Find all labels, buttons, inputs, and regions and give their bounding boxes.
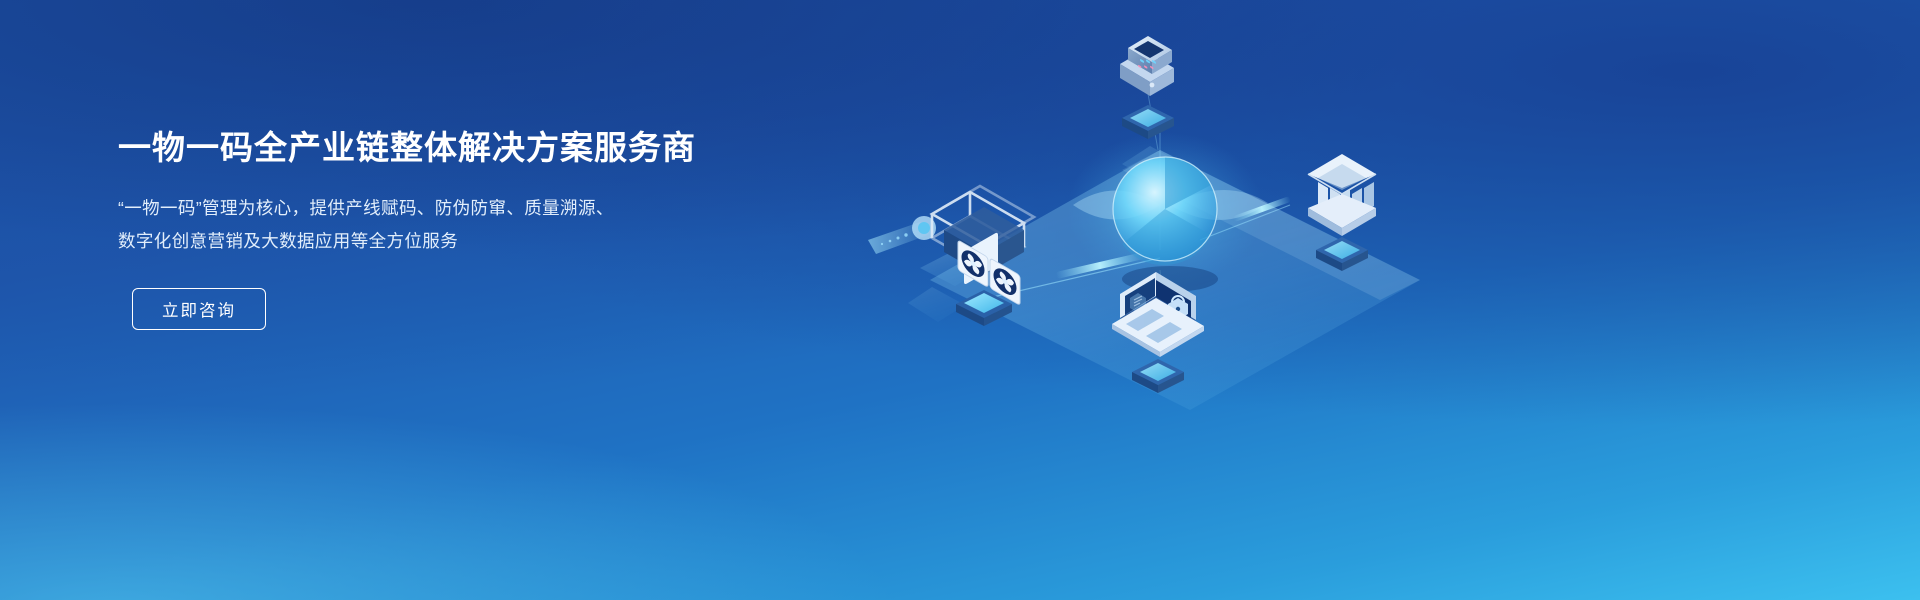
hero-subtitle: “一物一码”管理为核心，提供产线赋码、防伪防窜、质量溯源、 数字化创意营销及大数… [118, 192, 758, 258]
illustration-isometric-iot-network [860, 0, 1480, 600]
page-title: 一物一码全产业链整体解决方案服务商 [118, 128, 758, 168]
hero-banner: 一物一码全产业链整体解决方案服务商 “一物一码”管理为核心，提供产线赋码、防伪防… [0, 0, 1920, 600]
consult-now-button[interactable]: 立即咨询 [132, 288, 266, 330]
pos-terminal-icon [1120, 36, 1174, 139]
hero-subtitle-line-1: “一物一码”管理为核心，提供产线赋码、防伪防窜、质量溯源、 [118, 192, 758, 225]
bank-building-icon [1308, 154, 1376, 271]
hero-subtitle-line-2: 数字化创意营销及大数据应用等全方位服务 [118, 225, 758, 258]
hero-copy-block: 一物一码全产业链整体解决方案服务商 “一物一码”管理为核心，提供产线赋码、防伪防… [118, 128, 758, 330]
